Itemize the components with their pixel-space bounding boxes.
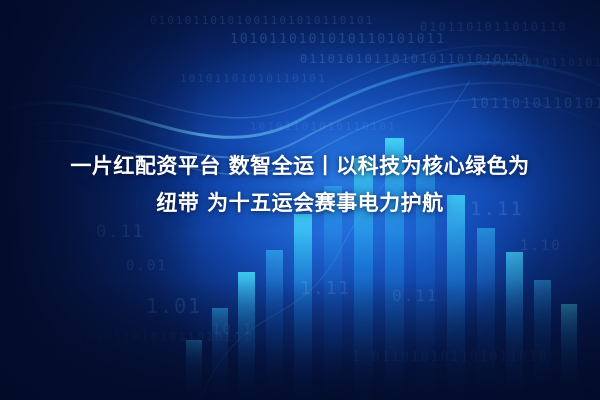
cover-image: 01010110101001101010110101 1010110101010…	[0, 0, 600, 400]
headline-line-1: 一片红配资平台 数智全运丨以科技为核心绿色为	[0, 148, 600, 185]
headline: 一片红配资平台 数智全运丨以科技为核心绿色为 纽带 为十五运会赛事电力护航	[0, 148, 600, 222]
headline-line-2: 纽带 为十五运会赛事电力护航	[0, 185, 600, 222]
bottom-shadow-overlay	[0, 280, 600, 400]
